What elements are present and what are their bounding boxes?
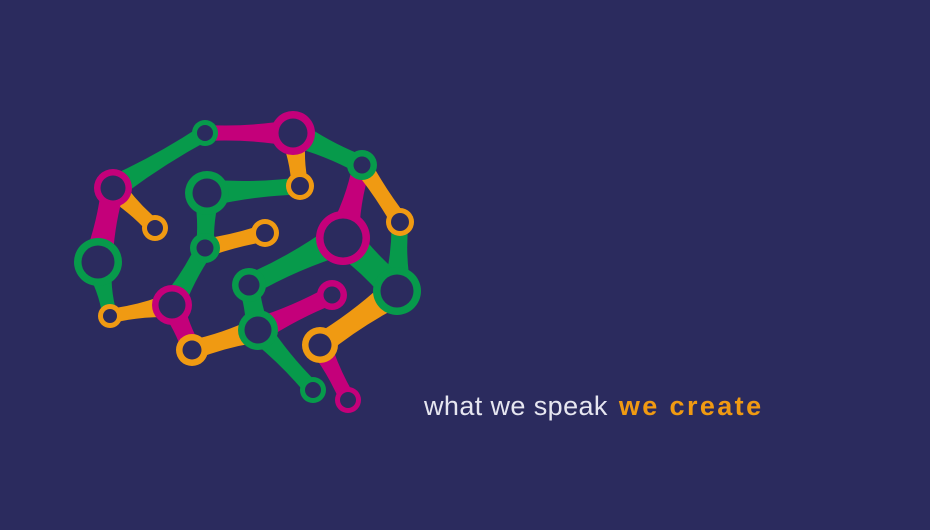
- logo-node-hole: [256, 224, 274, 242]
- brain-network-svg: [55, 92, 445, 432]
- logo-node-hole: [197, 240, 214, 257]
- logo-node-hole: [324, 219, 363, 258]
- logo-node-hole: [279, 119, 308, 148]
- logo-node-hole: [82, 246, 115, 279]
- logo-node-hole: [245, 317, 272, 344]
- logo-node-hole: [340, 392, 356, 408]
- brain-network-logo: [55, 92, 445, 432]
- tagline-accent-text: we create: [619, 391, 764, 422]
- logo-node-hole: [197, 125, 213, 141]
- logo-node-hole: [101, 176, 126, 201]
- tagline: what we speak we create: [424, 391, 764, 431]
- logo-node-hole: [354, 157, 371, 174]
- logo-node-hole: [147, 220, 163, 236]
- logo-node-hole: [305, 382, 321, 398]
- logo-node-hole: [381, 275, 414, 308]
- logo-node-hole: [193, 179, 222, 208]
- tagline-light-text: what we speak: [424, 391, 608, 422]
- logo-node-hole: [324, 287, 341, 304]
- logo-node-hole: [291, 177, 309, 195]
- logo-node-hole: [103, 309, 117, 323]
- logo-node-hole: [239, 275, 260, 296]
- logo-slide: what we speak we create: [0, 0, 930, 530]
- logo-node-hole: [391, 213, 409, 231]
- logo-node-hole: [159, 292, 186, 319]
- logo-node-hole: [183, 341, 202, 360]
- logo-node-hole: [309, 334, 332, 357]
